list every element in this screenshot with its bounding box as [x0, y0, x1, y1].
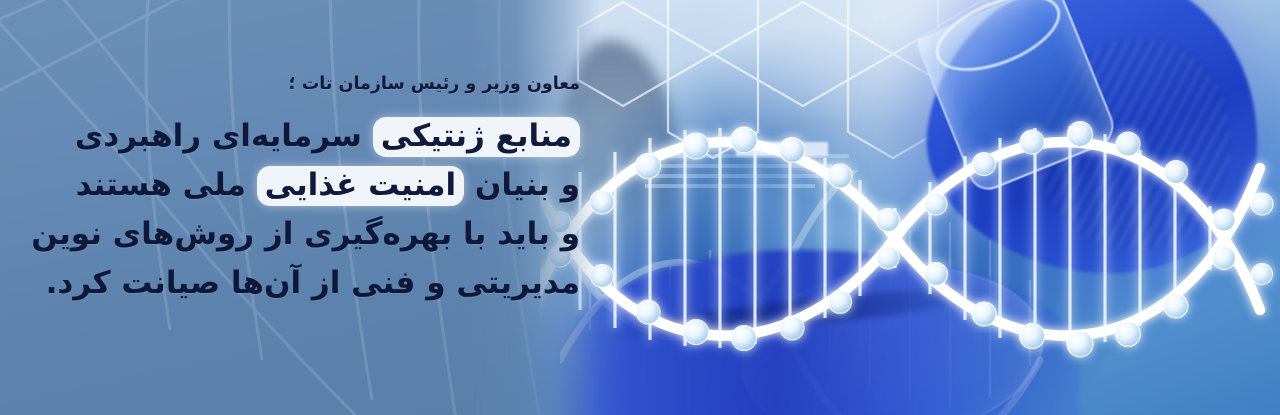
kicker-text: معاون وزیر و رئیس سازمان تات ؛ [40, 76, 580, 94]
headline-line-2: و بنیان امنیت غذایی ملی هستند [40, 161, 580, 210]
highlight-food-security: امنیت غذایی [257, 166, 464, 206]
headline-line-1: منابع ژنتیکی سرمایه‌ای راهبردی [40, 112, 580, 161]
headline-block: معاون وزیر و رئیس سازمان تات ؛ منابع ژنت… [20, 0, 580, 415]
highlight-genetic-resources: منابع ژنتیکی [373, 117, 580, 157]
headline-line-1-rest: سرمایه‌ای راهبردی [75, 118, 373, 154]
page-title: منابع ژنتیکی سرمایه‌ای راهبردی و بنیان ا… [40, 112, 580, 308]
dna-helix-icon [540, 60, 1280, 415]
news-banner: معاون وزیر و رئیس سازمان تات ؛ منابع ژنت… [0, 0, 1280, 415]
headline-line-2-post: ملی هستند [76, 167, 257, 203]
headline-line-4: مدیریتی و فنی از آن‌ها صیانت کرد. [40, 259, 580, 308]
headline-line-3: و باید با بهره‌گیری از روش‌های نوین [40, 210, 580, 259]
headline-line-2-pre: و بنیان [464, 167, 580, 203]
